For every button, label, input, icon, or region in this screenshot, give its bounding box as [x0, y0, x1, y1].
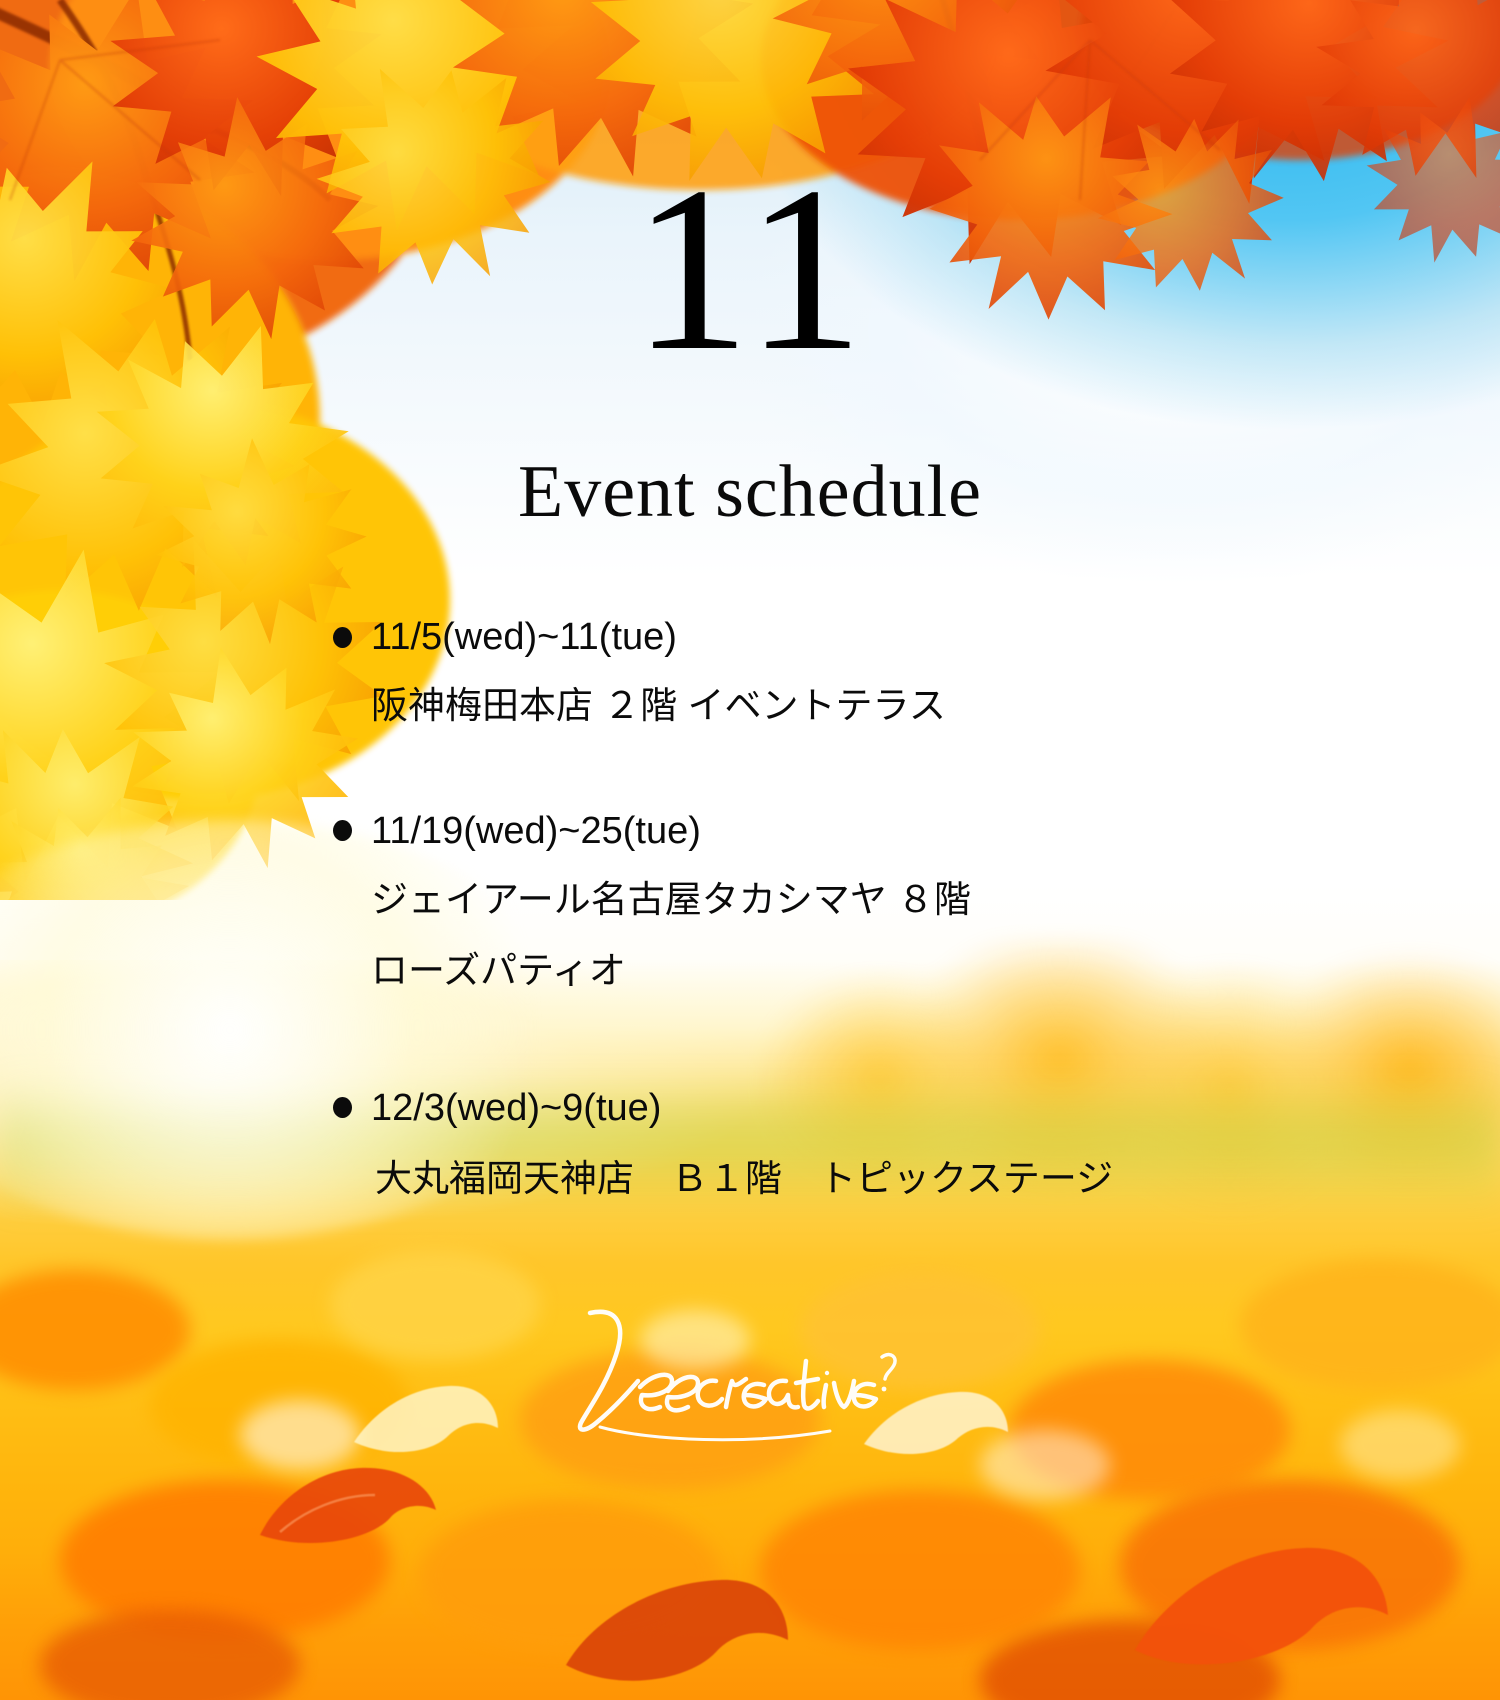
- list-item: 11/5(wed)~11(tue) 阪神梅田本店 ２階 イベントテラス: [333, 612, 1373, 734]
- event-venue-text: 大丸福岡天神店 Ｂ１階 トピックステージ: [375, 1151, 1373, 1207]
- page-title-headline: Event schedule: [0, 455, 1500, 529]
- event-venue-text-line2: ローズパティオ: [371, 943, 1373, 999]
- event-date-row: 11/19(wed)~25(tue): [333, 806, 1373, 856]
- maple-leaf-icon: [1130, 1530, 1390, 1680]
- event-date-text: 12/3(wed)~9(tue): [371, 1083, 661, 1133]
- list-item: 12/3(wed)~9(tue) 大丸福岡天神店 Ｂ１階 トピックステージ: [333, 1083, 1373, 1207]
- event-date-text: 11/5(wed)~11(tue): [371, 612, 677, 662]
- event-venue-text: 阪神梅田本店 ２階 イベントテラス: [371, 678, 1373, 734]
- schedule-list: 11/5(wed)~11(tue) 阪神梅田本店 ２階 イベントテラス 11/1…: [333, 612, 1373, 1206]
- event-date-text: 11/19(wed)~25(tue): [371, 806, 701, 856]
- page-title-month: 11: [0, 152, 1500, 388]
- maple-leaf-icon: [350, 1370, 500, 1460]
- bullet-dot-icon: [333, 1097, 352, 1118]
- list-item: 11/19(wed)~25(tue) ジェイアール名古屋タカシマヤ ８階 ローズ…: [333, 806, 1373, 999]
- event-venue-text: ジェイアール名古屋タカシマヤ ８階: [371, 872, 1373, 928]
- event-date-row: 11/5(wed)~11(tue): [333, 612, 1373, 662]
- event-schedule-poster: 11 Event schedule 11/5(wed)~11(tue) 阪神梅田…: [0, 0, 1500, 1700]
- maple-leaf-icon: [560, 1560, 790, 1690]
- bullet-dot-icon: [333, 820, 352, 841]
- bullet-dot-icon: [333, 627, 352, 648]
- brand-logo: Lee creative: [560, 1295, 900, 1445]
- signature-logo-icon: [560, 1295, 900, 1445]
- event-date-row: 12/3(wed)~9(tue): [333, 1083, 1373, 1133]
